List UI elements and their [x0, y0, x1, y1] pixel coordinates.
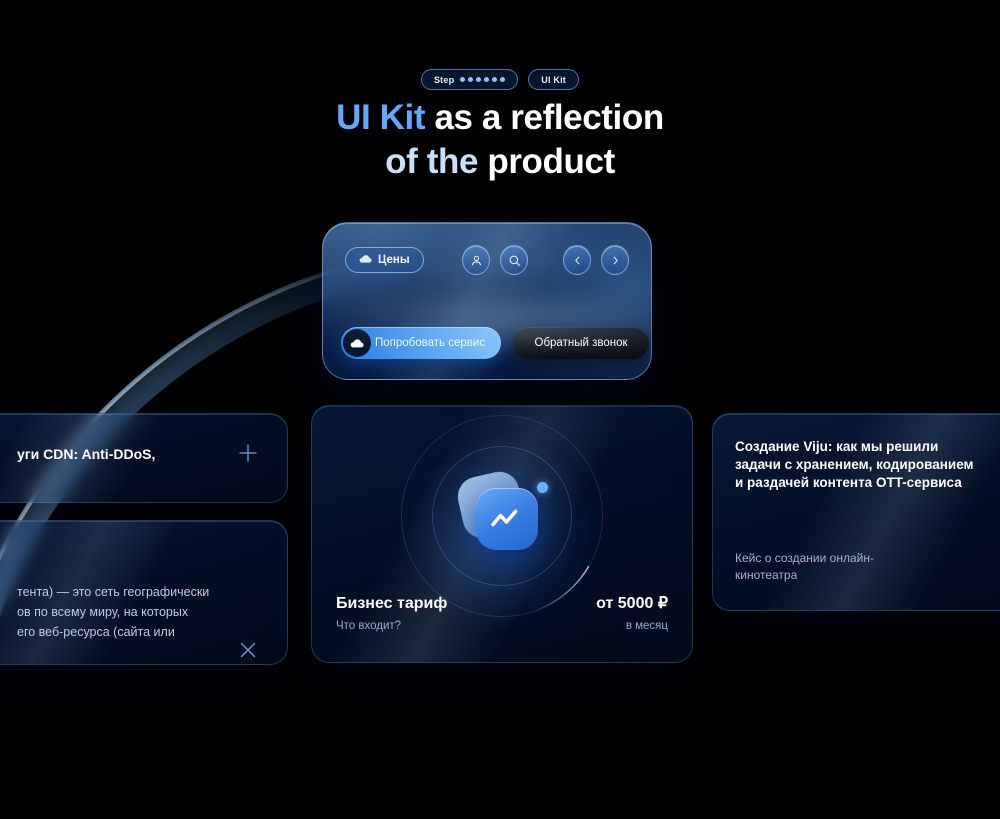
ui-kit-badge-label: UI Kit: [541, 75, 566, 85]
case-study-card[interactable]: Создание Viju: как мы решили задачи с хр…: [712, 413, 1000, 611]
step-badge[interactable]: Step: [421, 69, 518, 90]
accordion-card-collapsed[interactable]: уги CDN: Anti-DDoS,: [0, 413, 288, 503]
callback-label: Обратный звонок: [535, 337, 628, 349]
pricing-subtitle[interactable]: Что входит?: [336, 620, 401, 632]
chart-app-icon: [454, 468, 550, 564]
plus-icon[interactable]: [237, 442, 259, 464]
carousel-prev-button[interactable]: [563, 245, 591, 275]
chevron-right-icon: [610, 255, 621, 266]
pricing-footer: Бизнес тариф от 5000 ₽ Что входит? в мес…: [336, 593, 668, 632]
case-study-title: Создание Viju: как мы решили задачи с хр…: [735, 438, 985, 492]
chevron-left-icon: [572, 255, 583, 266]
pricing-title: Бизнес тариф: [336, 595, 447, 613]
headline-accent: UI Kit: [336, 98, 425, 137]
accordion-title: уги CDN: Anti-DDoS,: [17, 446, 229, 462]
account-icon-button[interactable]: [462, 245, 490, 275]
step-badge-label: Step: [434, 75, 454, 85]
pricing-period: в месяц: [626, 620, 668, 632]
headline-mid: of the: [385, 142, 487, 181]
card-row: уги CDN: Anti-DDoS, тента) — это сеть ге…: [0, 405, 1000, 665]
screen: Step UI Kit UI Kit as a reflection of th…: [0, 0, 1000, 819]
headline-line-2: of the product: [0, 144, 1000, 179]
close-icon[interactable]: [237, 639, 259, 661]
try-service-button[interactable]: Попробовать сервис: [341, 327, 501, 359]
account-icon: [470, 254, 483, 267]
search-icon: [508, 254, 521, 267]
app-canvas: Step UI Kit UI Kit as a reflection of th…: [0, 0, 1000, 806]
hero-glass-card: Цены: [322, 222, 652, 380]
cloud-icon: [343, 329, 371, 357]
badge-row: Step UI Kit: [0, 69, 1000, 90]
prices-pill-label: Цены: [378, 254, 410, 266]
step-dots: [460, 77, 505, 82]
pricing-amount: от 5000 ₽: [596, 593, 668, 613]
headline-line-1: UI Kit as a reflection: [0, 100, 1000, 135]
hero-actions: Попробовать сервис Обратный звонок: [341, 327, 633, 359]
search-icon-button[interactable]: [500, 245, 528, 275]
prices-pill-button[interactable]: Цены: [345, 247, 424, 273]
callback-button[interactable]: Обратный звонок: [513, 327, 649, 359]
try-service-label: Попробовать сервис: [375, 337, 485, 349]
ui-kit-badge[interactable]: UI Kit: [528, 69, 579, 90]
accordion-card-expanded[interactable]: тента) — это сеть географическиов по все…: [0, 520, 288, 665]
page-title: UI Kit as a reflection of the product: [0, 100, 1000, 188]
accordion-body: тента) — это сеть географическиов по все…: [17, 582, 239, 642]
pricing-card[interactable]: Бизнес тариф от 5000 ₽ Что входит? в мес…: [311, 405, 693, 663]
case-study-subtitle: Кейс о создании онлайн-кинотеатра: [735, 550, 935, 584]
headline-strong: product: [487, 142, 614, 181]
headline-rest-1: as a reflection: [425, 98, 664, 137]
carousel-next-button[interactable]: [601, 245, 629, 275]
bottom-notch: [300, 793, 700, 819]
cloud-icon: [359, 254, 372, 266]
hero-toolbar: Цены: [345, 245, 629, 275]
